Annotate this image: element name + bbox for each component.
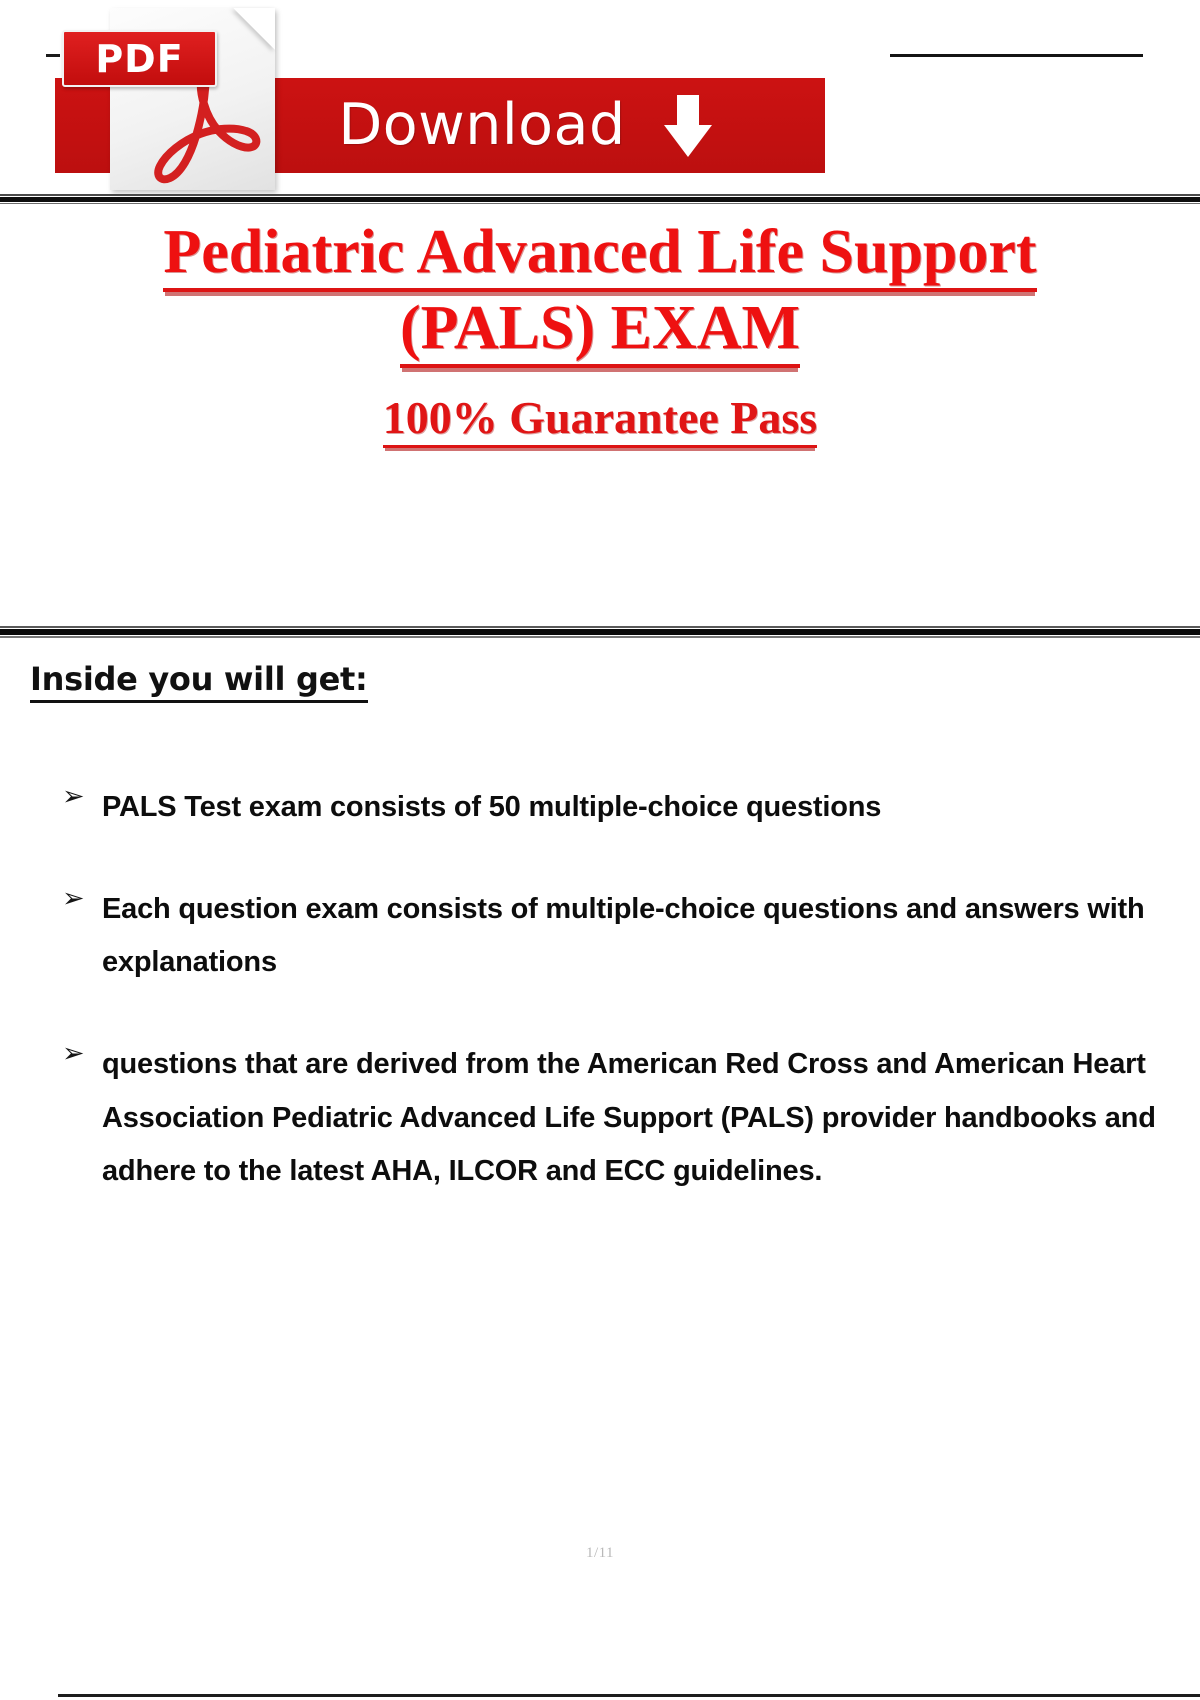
page-title-line-1-text: Pediatric Advanced Life Support xyxy=(163,218,1036,292)
bullet-arrow-icon: ➢ xyxy=(62,781,102,811)
divider-top xyxy=(0,194,1200,204)
page-title-line-1: Pediatric Advanced Life Support xyxy=(0,215,1200,291)
bottom-rule xyxy=(58,1694,1200,1697)
list-item-text: PALS Test exam consists of 50 multiple-c… xyxy=(102,781,1172,835)
page-title-block: Pediatric Advanced Life Support (PALS) E… xyxy=(0,215,1200,448)
page-subtitle: 100% Guarantee Pass xyxy=(0,388,1200,448)
pdf-badge: PDF xyxy=(62,30,217,87)
list-item-text: questions that are derived from the Amer… xyxy=(102,1038,1172,1199)
body-content: Inside you will get: ➢ PALS Test exam co… xyxy=(0,660,1200,1247)
pdf-file-icon[interactable]: PDF xyxy=(110,8,275,190)
bullet-arrow-icon: ➢ xyxy=(62,1038,102,1068)
feature-bullet-list: ➢ PALS Test exam consists of 50 multiple… xyxy=(62,781,1172,1199)
list-item: ➢ PALS Test exam consists of 50 multiple… xyxy=(62,781,1172,835)
download-arrow-icon xyxy=(664,95,712,157)
page-subtitle-text: 100% Guarantee Pass xyxy=(383,392,817,448)
list-item: ➢ questions that are derived from the Am… xyxy=(62,1038,1172,1199)
download-banner-area: Download PDF xyxy=(0,0,1200,200)
pdf-badge-label: PDF xyxy=(95,40,183,78)
top-right-rule xyxy=(890,54,1143,57)
document-page: Download PDF Pediatric Advanced Life Sup… xyxy=(0,0,1200,1700)
list-item-text: Each question exam consists of multiple-… xyxy=(102,883,1172,990)
list-item: ➢ Each question exam consists of multipl… xyxy=(62,883,1172,990)
bullet-arrow-icon: ➢ xyxy=(62,883,102,913)
section-heading: Inside you will get: xyxy=(30,660,368,703)
page-title-line-2-text: (PALS) EXAM xyxy=(400,294,800,368)
divider-middle xyxy=(0,626,1200,638)
pdf-fold-corner xyxy=(233,8,275,50)
page-number-footer: 1/11 xyxy=(0,1545,1200,1562)
page-title-line-2: (PALS) EXAM xyxy=(0,291,1200,367)
left-rule xyxy=(46,54,60,57)
